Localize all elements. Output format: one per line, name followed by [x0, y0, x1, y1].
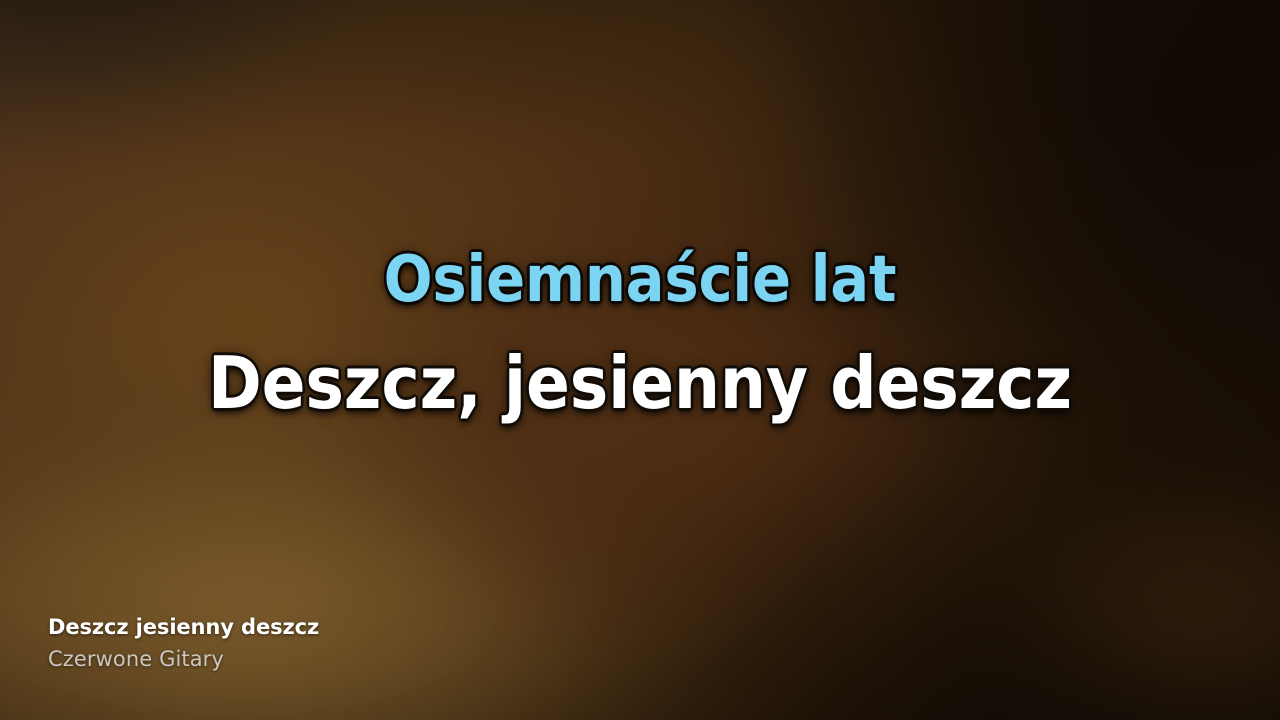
karaoke-player-screen: Osiemnaście lat Deszcz, jesienny deszcz … [0, 0, 1280, 720]
blurred-album-art-backdrop [0, 0, 1280, 720]
now-playing-info: Deszcz jesienny deszcz Czerwone Gitary [48, 614, 319, 674]
track-title: Deszcz jesienny deszcz [48, 614, 319, 642]
track-artist: Czerwone Gitary [48, 645, 319, 674]
background-top-vignette [0, 0, 1280, 149]
